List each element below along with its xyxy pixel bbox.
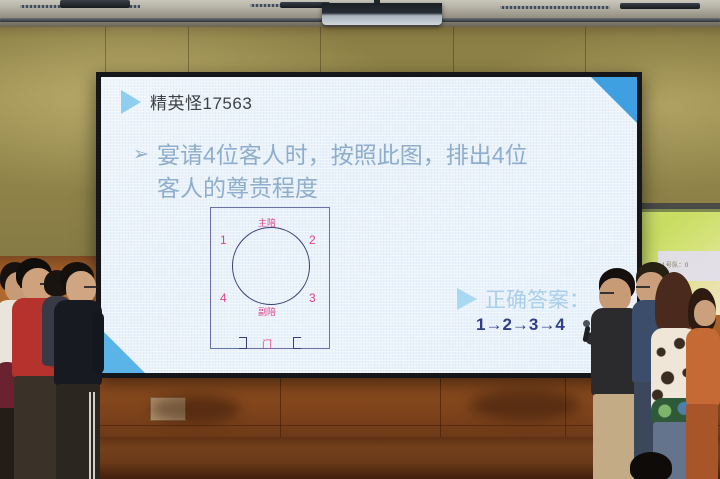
head [694,300,716,326]
head [599,278,631,312]
pant-stripe [89,392,91,479]
legs-striped [56,384,100,479]
diagram-door-bracket-right [293,337,301,349]
diagram-seat-2: 2 [309,233,316,247]
answer-title-row: 正确答案： [457,284,590,314]
person-left-black-tee [54,262,106,479]
stage-panel-seam [440,374,441,444]
slide-title: 精英怪17563 [150,89,252,114]
torso-shirt-orange [686,328,720,406]
slide-title-row: 精英怪17563 [121,89,252,114]
bullet-marker-icon: ➢ [133,141,149,169]
pant-stripe [93,392,95,479]
glasses-icon [600,292,614,294]
slide-bullet-block: ➢ 宴请4位客人时，按照此图，排出4位 客人的尊贵程度 [157,139,577,206]
cast-shadow [470,390,580,420]
screenshot-root: 1号队：0 精英怪17563 ➢ 宴请4位客人时，按照此图，排出4位 客人的尊贵… [0,0,720,479]
glasses-icon [84,286,99,288]
diagram-label-host: 主陪 [258,216,276,229]
ceiling-fixture [620,3,700,9]
bullet-line-1: 宴请4位客人时，按照此图，排出4位 [157,139,577,172]
ceiling-fixture [60,0,130,8]
triangle-bullet-icon [121,90,141,114]
legs [14,376,58,479]
corner-accent-bottom-left [101,329,145,373]
diagram-round-table [232,227,310,305]
diagram-label-door: 门 [262,336,272,351]
person-foreground-head [630,452,672,479]
diagram-seat-1: 1 [220,233,227,247]
hair [630,452,672,479]
bullet-line-2: 客人的尊贵程度 [157,172,577,205]
glasses-icon [636,286,650,288]
arm [92,312,104,374]
legs [686,404,718,479]
answer-label: 正确答案： [485,284,590,314]
presentation-slide: 精英怪17563 ➢ 宴请4位客人时，按照此图，排出4位 客人的尊贵程度 主陪 … [101,77,637,373]
triangle-bullet-icon [457,288,477,310]
main-led-screen: 精英怪17563 ➢ 宴请4位客人时，按照此图，排出4位 客人的尊贵程度 主陪 … [96,72,642,378]
diagram-seat-4: 4 [220,291,227,305]
banquet-seating-diagram: 主陪 副陪 1 2 3 4 门 [206,207,334,355]
diagram-label-cohost: 副陪 [258,305,276,318]
ceiling-light-slot [500,6,610,9]
corner-accent-top-right [591,77,637,123]
diagram-door-bracket-left [239,337,247,349]
cast-shadow [150,395,240,423]
diagram-seat-3: 3 [309,291,316,305]
ceiling-projector [322,3,442,25]
person-right-orange [686,288,720,479]
answer-sequence: 1→2→3→4 [476,315,565,335]
stage-panel-seam [280,374,281,444]
